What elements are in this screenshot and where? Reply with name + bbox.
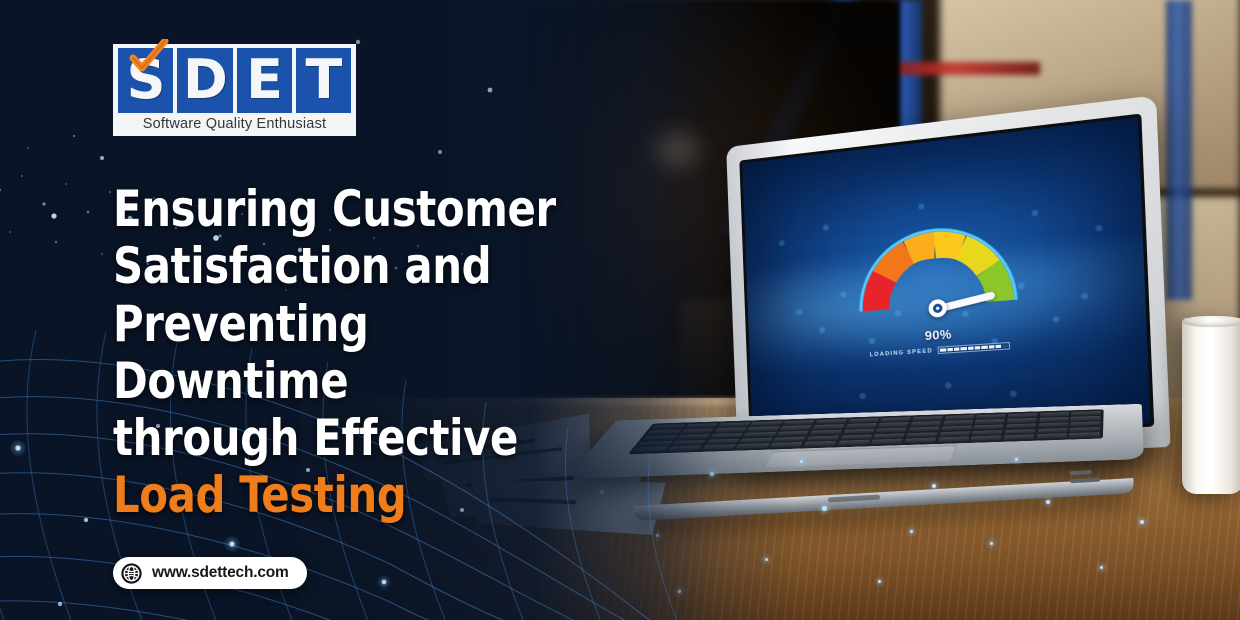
logo-tagline: Software Quality Enthusiast xyxy=(118,113,351,136)
logo-letter-box-s: S xyxy=(118,48,173,113)
website-url-text: www.sdettech.com xyxy=(152,564,289,582)
logo-letter: T xyxy=(305,53,341,107)
check-mark-icon xyxy=(129,39,169,73)
headline-line-2: Satisfaction and xyxy=(113,238,597,295)
promo-banner: 90% LOADING SPEED xyxy=(0,0,1240,620)
logo-letter-box-t: T xyxy=(296,48,351,113)
logo-letter-box-e: E xyxy=(237,48,292,113)
logo-letter: D xyxy=(183,53,227,107)
headline-line-3: Preventing Downtime xyxy=(113,296,597,411)
headline: Ensuring Customer Satisfaction and Preve… xyxy=(113,181,597,525)
logo-letter: E xyxy=(246,53,282,107)
headline-line-1: Ensuring Customer xyxy=(113,181,597,238)
headline-accent-line: Load Testing xyxy=(113,467,597,524)
headline-line-4: through Effective xyxy=(113,410,597,467)
globe-icon xyxy=(120,562,143,585)
logo-letter-boxes: S D E T xyxy=(118,48,351,113)
website-url-badge[interactable]: www.sdettech.com xyxy=(113,557,307,589)
sdet-logo[interactable]: S D E T Software Quality Enthusiast xyxy=(113,44,356,136)
logo-letter-box-d: D xyxy=(177,48,232,113)
